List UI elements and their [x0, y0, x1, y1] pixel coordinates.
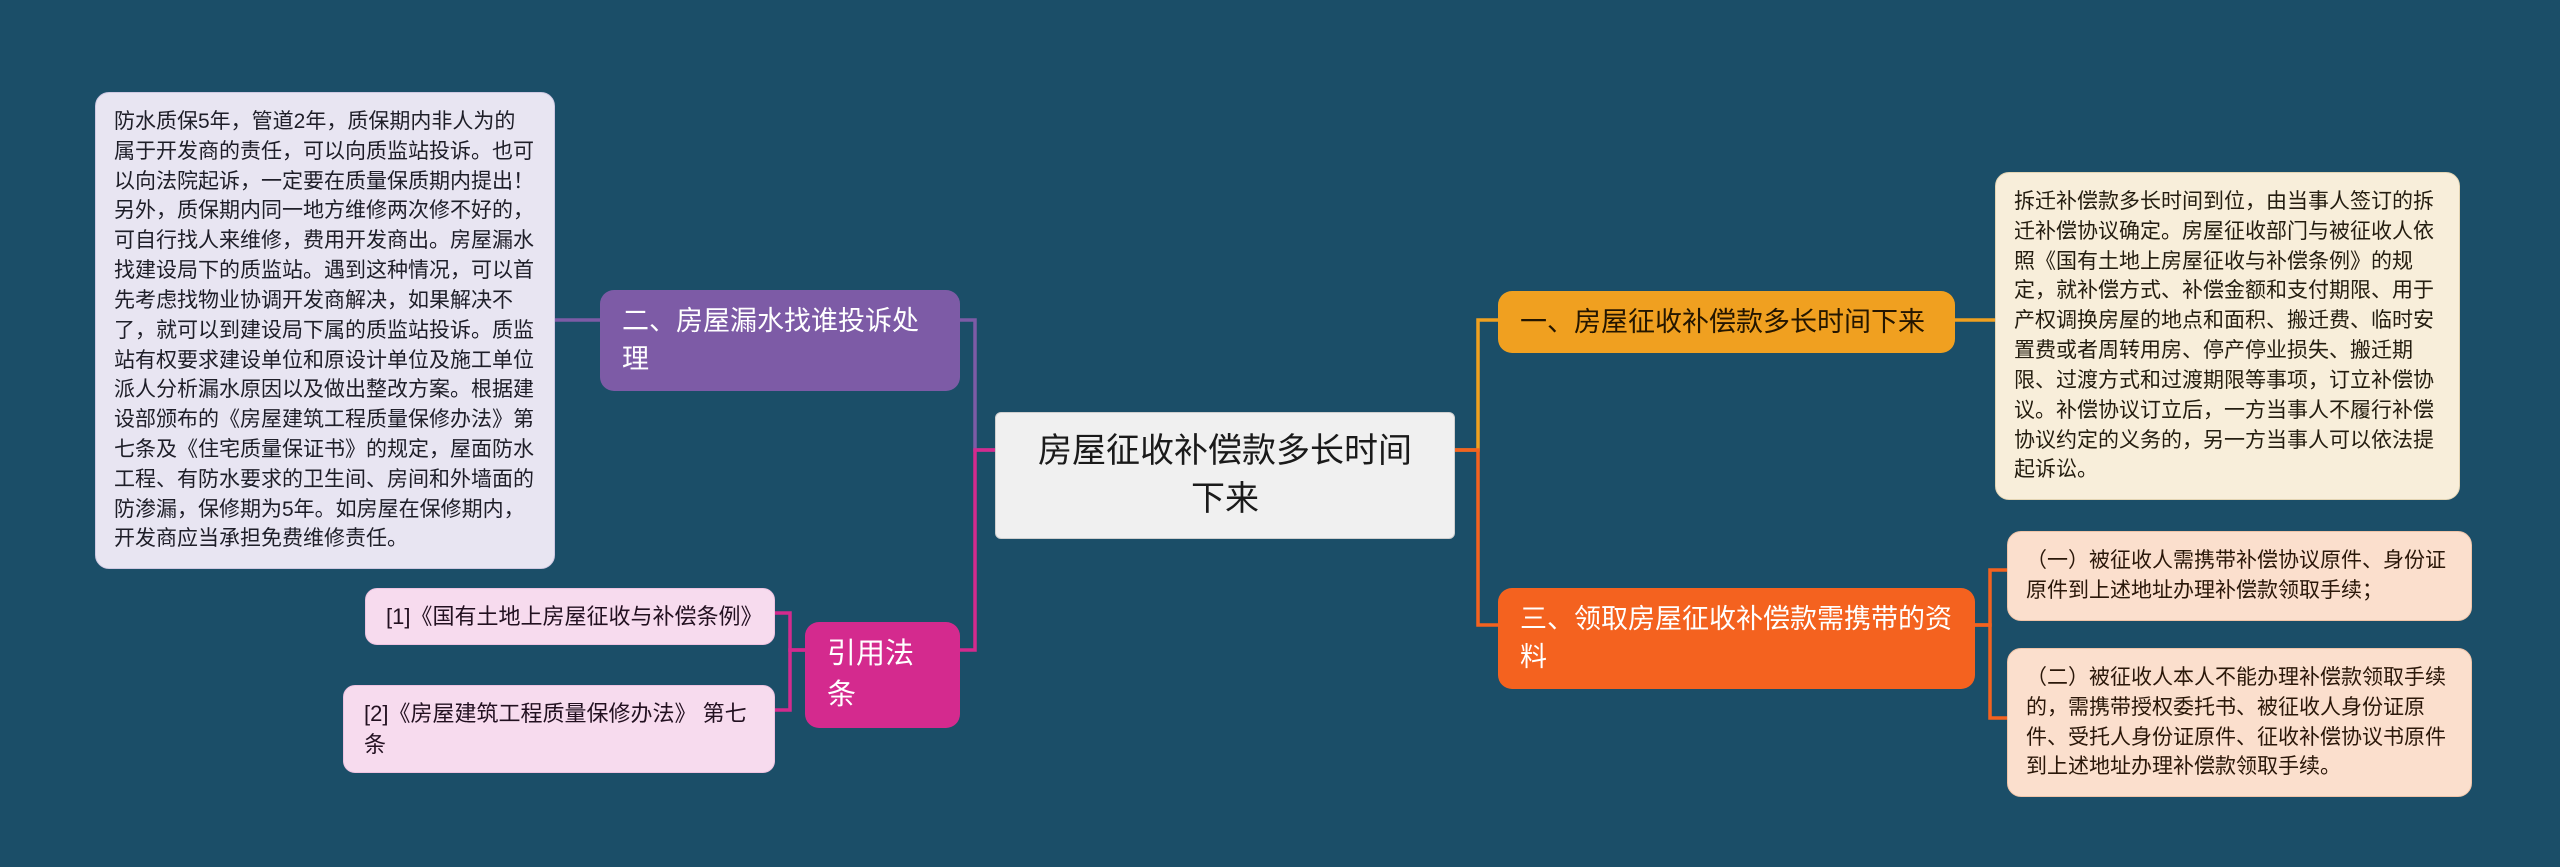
- leaf-compensation-timeline-detail[interactable]: 拆迁补偿款多长时间到位，由当事人签订的拆迁补偿协议确定。房屋征收部门与被征收人依…: [1995, 172, 2460, 500]
- leaf-house-leak-detail-text: 防水质保5年，管道2年，质保期内非人为的属于开发商的责任，可以向质监站投诉。也可…: [114, 107, 536, 554]
- leaf-house-leak-detail[interactable]: 防水质保5年，管道2年，质保期内非人为的属于开发商的责任，可以向质监站投诉。也可…: [95, 92, 555, 569]
- leaf-statute-2[interactable]: [2]《房屋建筑工程质量保修办法》 第七条: [343, 685, 775, 773]
- branch-node-required-documents-label: 三、领取房屋征收补偿款需携带的资料: [1520, 600, 1953, 677]
- leaf-required-documents-2-text: （二）被征收人本人不能办理补偿款领取手续的，需携带授权委托书、被征收人身份证原件…: [2026, 663, 2453, 782]
- branch-node-house-leak-complaint[interactable]: 二、房屋漏水找谁投诉处理: [600, 290, 960, 391]
- mindmap-canvas: 房屋征收补偿款多长时间下来 二、房屋漏水找谁投诉处理 防水质保5年，管道2年，质…: [0, 0, 2560, 867]
- leaf-required-documents-1[interactable]: （一）被征收人需携带补偿协议原件、身份证原件到上述地址办理补偿款领取手续；: [2007, 531, 2472, 621]
- leaf-statute-1-text: [1]《国有土地上房屋征收与补偿条例》: [386, 601, 754, 632]
- leaf-compensation-timeline-detail-text: 拆迁补偿款多长时间到位，由当事人签订的拆迁补偿协议确定。房屋征收部门与被征收人依…: [2014, 187, 2441, 485]
- branch-node-compensation-timeline-label: 一、房屋征收补偿款多长时间下来: [1520, 303, 1933, 341]
- root-node-label: 房屋征收补偿款多长时间下来: [1022, 427, 1428, 524]
- branch-node-house-leak-complaint-label: 二、房屋漏水找谁投诉处理: [622, 302, 938, 379]
- branch-node-cited-statutes-label: 引用法条: [827, 634, 938, 716]
- branch-node-required-documents[interactable]: 三、领取房屋征收补偿款需携带的资料: [1498, 588, 1975, 689]
- root-node[interactable]: 房屋征收补偿款多长时间下来: [995, 412, 1455, 539]
- leaf-required-documents-1-text: （一）被征收人需携带补偿协议原件、身份证原件到上述地址办理补偿款领取手续；: [2026, 546, 2453, 606]
- leaf-statute-2-text: [2]《房屋建筑工程质量保修办法》 第七条: [364, 698, 754, 760]
- leaf-required-documents-2[interactable]: （二）被征收人本人不能办理补偿款领取手续的，需携带授权委托书、被征收人身份证原件…: [2007, 648, 2472, 797]
- branch-node-cited-statutes[interactable]: 引用法条: [805, 622, 960, 728]
- branch-node-compensation-timeline[interactable]: 一、房屋征收补偿款多长时间下来: [1498, 291, 1955, 353]
- leaf-statute-1[interactable]: [1]《国有土地上房屋征收与补偿条例》: [365, 588, 775, 645]
